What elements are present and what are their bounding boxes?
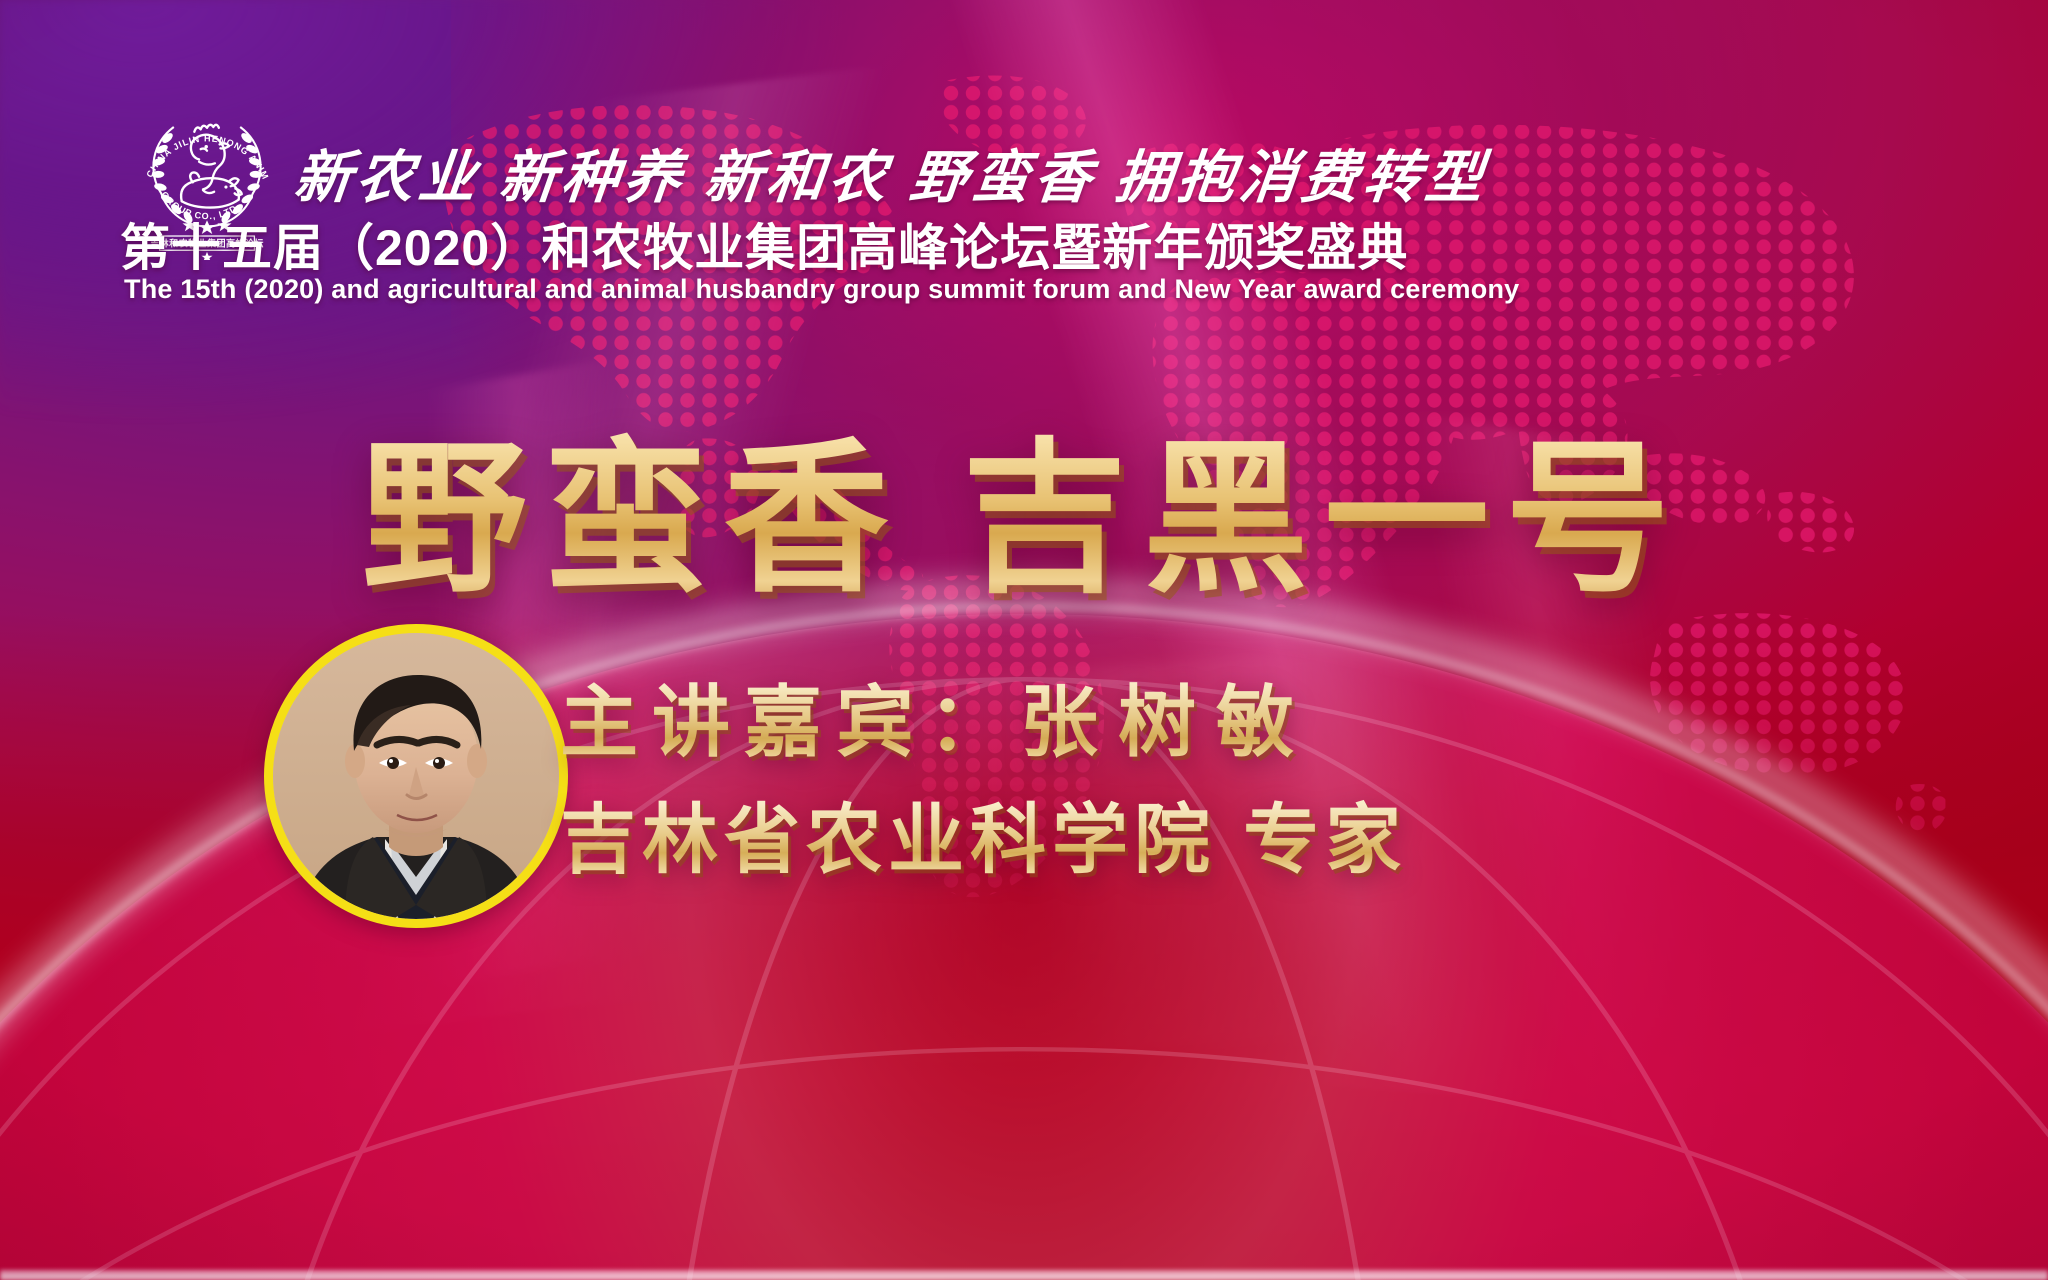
speaker-label: 主讲嘉宾： bbox=[560, 679, 1020, 766]
brand-slogan: 新农业 新种养 新和农 野蛮香 拥抱消费转型 bbox=[291, 132, 1240, 214]
bottom-edge-glow bbox=[0, 1270, 2048, 1280]
main-title: 野蛮香 吉黑一号 bbox=[0, 385, 2048, 624]
speaker-name: 张树敏 bbox=[1020, 679, 1314, 766]
speaker-affiliation: 吉林省农业科学院 专家 bbox=[560, 778, 1740, 888]
poster-slide: CHINA JILIN HENONG ANIMAL HUSBANDRY GROU… bbox=[0, 0, 2048, 1280]
event-title-chinese: 第十五届（2020）和农牧业集团高峰论坛暨新年颁奖盛典 bbox=[120, 208, 1408, 280]
speaker-line: 主讲嘉宾：张树敏 bbox=[560, 660, 1660, 772]
event-title-english: The 15th (2020) and agricultural and ani… bbox=[124, 274, 1519, 305]
speaker-portrait bbox=[264, 624, 568, 928]
